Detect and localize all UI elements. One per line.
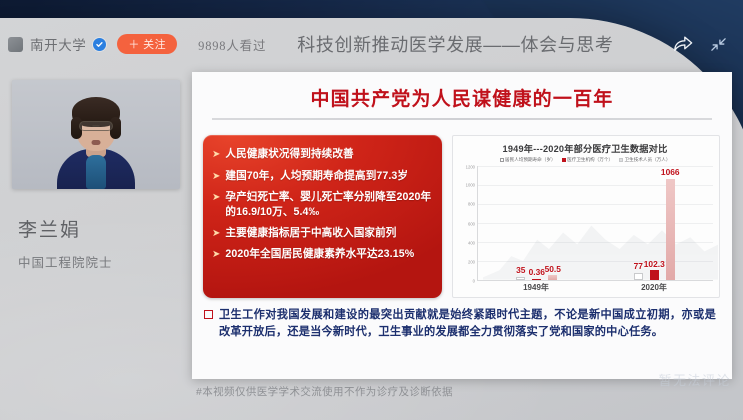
x-tick-label: 2020年 bbox=[595, 282, 713, 293]
legend-swatch bbox=[562, 158, 566, 162]
legend-entry: 卫生技术人员（万人） bbox=[619, 157, 670, 163]
list-item: ➤ 建国70年，人均预期寿命提高到77.3岁 bbox=[212, 169, 432, 184]
bar-label: 1066 bbox=[661, 167, 680, 177]
slide-body: ➤ 人民健康状况得到持续改善 ➤ 建国70年，人均预期寿命提高到77.3岁 ➤ … bbox=[192, 126, 732, 298]
chart-card: 1949年---2020年部分医疗卫生数据对比 居民人均预期寿命（岁） 医疗卫生… bbox=[452, 135, 720, 298]
chart-plot: 0 200 400 600 800 1000 1200 bbox=[457, 166, 713, 281]
chevron-right-icon: ➤ bbox=[212, 227, 220, 241]
list-item: ➤ 主要健康指标居于中高收入国家前列 bbox=[212, 226, 432, 241]
follow-button[interactable]: ＋ 关注 bbox=[117, 34, 177, 54]
chart-y-axis: 0 200 400 600 800 1000 1200 bbox=[457, 166, 477, 281]
x-tick-label: 1949年 bbox=[477, 282, 595, 293]
bar-1949-institutions: 0.36 bbox=[532, 279, 541, 280]
chart-title: 1949年---2020年部分医疗卫生数据对比 bbox=[457, 141, 713, 155]
y-tick: 800 bbox=[468, 202, 475, 207]
y-tick: 600 bbox=[468, 221, 475, 226]
bar-fill bbox=[516, 277, 525, 280]
verified-badge-icon bbox=[93, 38, 106, 51]
slide-title: 中国共产党为人民谋健康的一百年 bbox=[310, 84, 613, 111]
comments-watermark: 暂无法评论 bbox=[658, 370, 731, 389]
bullet-text: 孕产妇死亡率、婴儿死亡率分别降至2020年的16.9/10万、5.4‰ bbox=[225, 190, 432, 219]
slide-title-wrap: 中国共产党为人民谋健康的一百年 bbox=[192, 72, 732, 126]
app-stage: 南开大学 ＋ 关注 9898人看过 科技创新推动医学发展——体会与思考 bbox=[0, 0, 743, 420]
bar-label: 102.3 bbox=[644, 259, 665, 269]
list-item: ➤ 2020年全国居民健康素养水平达23.15% bbox=[212, 247, 432, 262]
view-count: 9898人看过 bbox=[198, 35, 266, 54]
bar-fill bbox=[634, 273, 643, 280]
video-title: 科技创新推动医学发展——体会与思考 bbox=[297, 31, 613, 57]
bar-fill bbox=[548, 275, 557, 280]
bar-label: 35 bbox=[516, 265, 525, 275]
speaker-panel: 李兰娟 中国工程院院士 bbox=[12, 80, 180, 271]
legend-label: 居民人均预期寿命（岁） bbox=[505, 157, 556, 163]
bullet-text: 主要健康指标居于中高收入国家前列 bbox=[225, 226, 396, 241]
bar-2020-personnel: 1066 bbox=[666, 179, 675, 280]
chevron-right-icon: ➤ bbox=[212, 191, 220, 205]
portrait-glasses-icon bbox=[79, 121, 113, 131]
portrait-scarf bbox=[86, 155, 106, 189]
bar-group-1949: 35 0.36 50.5 bbox=[478, 166, 596, 280]
speaker-portrait bbox=[57, 97, 135, 189]
legend-label: 卫生技术人员（万人） bbox=[625, 157, 671, 163]
bullet-text: 2020年全国居民健康素养水平达23.15% bbox=[225, 247, 414, 262]
legend-entry: 医疗卫生机构（万个） bbox=[562, 157, 613, 163]
share-arrow-icon[interactable] bbox=[672, 34, 694, 54]
bar-2020-life-expectancy: 77 bbox=[634, 273, 643, 280]
channel-avatar[interactable] bbox=[8, 37, 23, 52]
square-bullet-icon bbox=[204, 310, 213, 319]
bullet-text: 建国70年，人均预期寿命提高到77.3岁 bbox=[225, 169, 408, 184]
bar-label: 77 bbox=[634, 261, 643, 271]
presentation-slide[interactable]: 中国共产党为人民谋健康的一百年 ➤ 人民健康状况得到持续改善 ➤ 建国70年，人… bbox=[192, 72, 732, 379]
top-bar-actions bbox=[672, 34, 743, 54]
portrait-mouth bbox=[92, 140, 101, 145]
bar-1949-life-expectancy: 35 bbox=[516, 277, 525, 280]
bar-1949-personnel: 50.5 bbox=[548, 275, 557, 280]
speaker-role: 中国工程院院士 bbox=[12, 252, 180, 271]
chart-bar-groups: 35 0.36 50.5 bbox=[478, 166, 713, 280]
bar-fill bbox=[532, 279, 541, 280]
chart-plot-area: 35 0.36 50.5 bbox=[477, 166, 713, 281]
top-bar: 南开大学 ＋ 关注 9898人看过 科技创新推动医学发展——体会与思考 bbox=[0, 26, 743, 62]
slide-paragraph-block: 卫生工作对我国发展和建设的最突出贡献就是始终紧跟时代主题，不论是新中国成立初期，… bbox=[192, 298, 732, 341]
bar-fill bbox=[666, 179, 675, 280]
bullet-panel: ➤ 人民健康状况得到持续改善 ➤ 建国70年，人均预期寿命提高到77.3岁 ➤ … bbox=[203, 135, 442, 298]
list-item: ➤ 人民健康状况得到持续改善 bbox=[212, 147, 432, 162]
chart-x-axis: 1949年 2020年 bbox=[477, 282, 713, 293]
bar-group-2020: 77 102.3 1066 bbox=[596, 166, 714, 280]
bar-label: 50.5 bbox=[545, 264, 561, 274]
list-item: ➤ 孕产妇死亡率、婴儿死亡率分别降至2020年的16.9/10万、5.4‰ bbox=[212, 190, 432, 219]
bar-label: 0.36 bbox=[529, 267, 545, 277]
chevron-right-icon: ➤ bbox=[212, 170, 220, 184]
collapse-arrows-icon[interactable] bbox=[710, 36, 727, 53]
title-divider bbox=[212, 118, 712, 120]
bar-2020-institutions: 102.3 bbox=[650, 270, 659, 280]
speaker-video-thumbnail[interactable] bbox=[12, 80, 180, 189]
slide-paragraph: 卫生工作对我国发展和建设的最突出贡献就是始终紧跟时代主题，不论是新中国成立初期，… bbox=[219, 307, 716, 341]
chart-legend: 居民人均预期寿命（岁） 医疗卫生机构（万个） 卫生技术人员（万人） bbox=[457, 157, 713, 163]
channel-name[interactable]: 南开大学 bbox=[30, 34, 86, 54]
y-tick: 0 bbox=[473, 279, 475, 284]
chevron-right-icon: ➤ bbox=[212, 248, 220, 262]
legend-label: 医疗卫生机构（万个） bbox=[567, 157, 613, 163]
y-tick: 400 bbox=[468, 240, 475, 245]
legend-swatch bbox=[619, 158, 623, 162]
legend-entry: 居民人均预期寿命（岁） bbox=[500, 157, 556, 163]
speaker-name: 李兰娟 bbox=[12, 215, 180, 242]
chevron-right-icon: ➤ bbox=[212, 148, 220, 162]
bar-fill bbox=[650, 270, 659, 280]
y-tick: 1000 bbox=[466, 183, 475, 188]
y-tick: 200 bbox=[468, 259, 475, 264]
y-tick: 1200 bbox=[466, 164, 475, 169]
legend-swatch bbox=[500, 158, 504, 162]
bullet-text: 人民健康状况得到持续改善 bbox=[225, 147, 353, 162]
disclaimer-text: #本视频仅供医学学术交流使用不作为诊疗及诊断依据 bbox=[196, 384, 453, 399]
